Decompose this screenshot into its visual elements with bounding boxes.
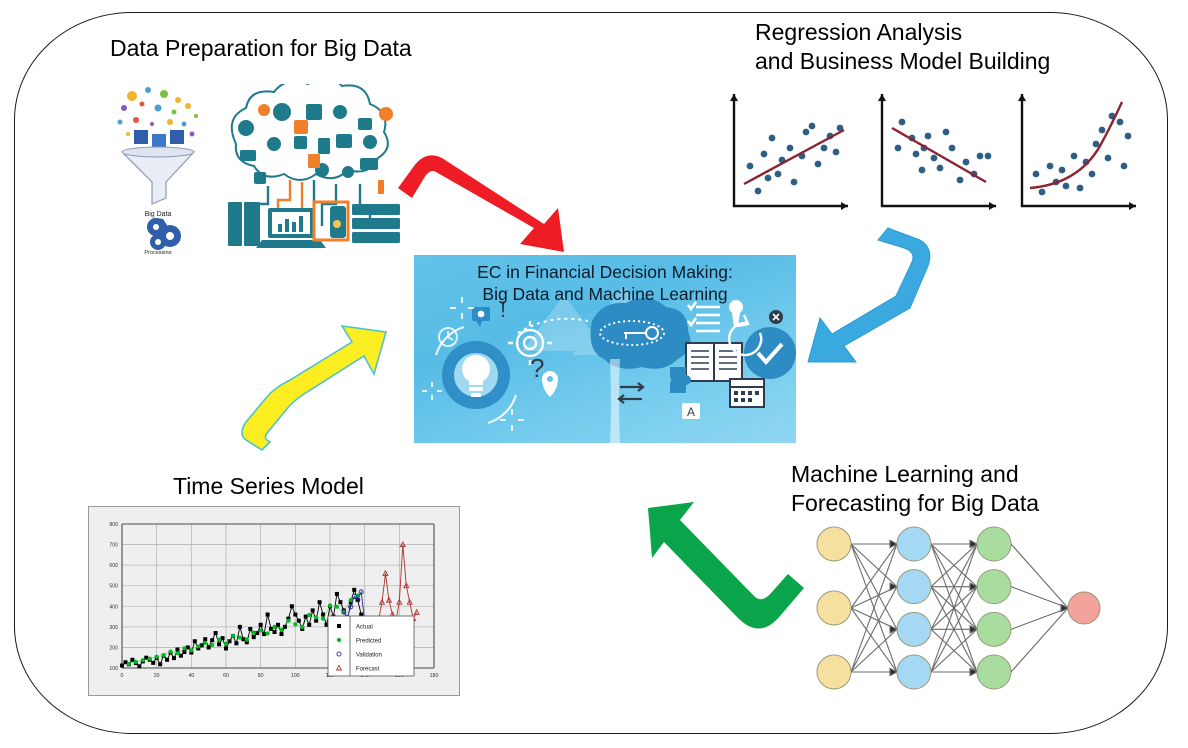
chart-legend: ActualPredictedValidationForecast bbox=[328, 616, 414, 676]
svg-text:600: 600 bbox=[109, 563, 118, 569]
neural-network-diagram bbox=[806, 522, 1116, 694]
svg-text:Forecast: Forecast bbox=[356, 666, 380, 672]
diagram-canvas: Data Preparation for Big Data Regression… bbox=[0, 0, 1188, 748]
label-machine-learning: Machine Learning and Forecasting for Big… bbox=[791, 460, 1039, 518]
time-series-chart: 0204060801001201401601801002003004005006… bbox=[88, 506, 460, 696]
checklist-icon bbox=[688, 302, 720, 331]
yellow-arrow bbox=[232, 322, 392, 452]
big-data-funnel-icon: Big Data Processing bbox=[112, 82, 204, 254]
green-arrow bbox=[638, 492, 806, 638]
big-data-infographic bbox=[210, 84, 404, 252]
svg-text:Validation: Validation bbox=[356, 652, 382, 658]
label-regression-analysis: Regression Analysis and Business Model B… bbox=[755, 18, 1050, 76]
svg-text:300: 300 bbox=[109, 625, 118, 631]
red-arrow bbox=[392, 132, 570, 254]
svg-text:200: 200 bbox=[109, 645, 118, 651]
regression-chart-exponential bbox=[1008, 86, 1148, 222]
funnel-label: Big Data bbox=[145, 211, 172, 218]
center-banner-title: EC in Financial Decision Making: Big Dat… bbox=[414, 261, 796, 305]
center-banner: EC in Financial Decision Making: Big Dat… bbox=[414, 255, 796, 443]
gears-label: Processing bbox=[144, 250, 171, 254]
svg-text:40: 40 bbox=[188, 673, 194, 679]
svg-text:800: 800 bbox=[109, 522, 118, 528]
regression-chart-negative-linear bbox=[868, 86, 1008, 222]
arrows-exchange-icon bbox=[619, 383, 643, 403]
svg-text:700: 700 bbox=[109, 543, 118, 549]
svg-text:400: 400 bbox=[109, 604, 118, 610]
question-mark-icon: ? bbox=[530, 353, 544, 383]
head-silhouette bbox=[610, 359, 620, 443]
svg-text:?: ? bbox=[530, 353, 544, 383]
svg-text:A: A bbox=[687, 405, 695, 419]
svg-text:100: 100 bbox=[291, 673, 300, 679]
regression-chart-positive-linear bbox=[720, 86, 860, 222]
svg-text:60: 60 bbox=[223, 673, 229, 679]
data-preparation-artwork: Big Data Processing bbox=[112, 82, 404, 254]
svg-text:180: 180 bbox=[430, 673, 439, 679]
blue-arrow bbox=[792, 222, 942, 368]
svg-text:100: 100 bbox=[109, 666, 118, 672]
calendar-icon bbox=[730, 379, 764, 407]
svg-text:20: 20 bbox=[154, 673, 160, 679]
label-time-series-model: Time Series Model bbox=[173, 472, 364, 501]
clock-icon bbox=[439, 328, 457, 346]
svg-text:Predicted: Predicted bbox=[356, 638, 381, 644]
svg-text:80: 80 bbox=[258, 673, 264, 679]
label-data-preparation: Data Preparation for Big Data bbox=[110, 34, 412, 63]
svg-text:Actual: Actual bbox=[356, 624, 373, 630]
svg-text:0: 0 bbox=[121, 673, 124, 679]
svg-text:500: 500 bbox=[109, 584, 118, 590]
